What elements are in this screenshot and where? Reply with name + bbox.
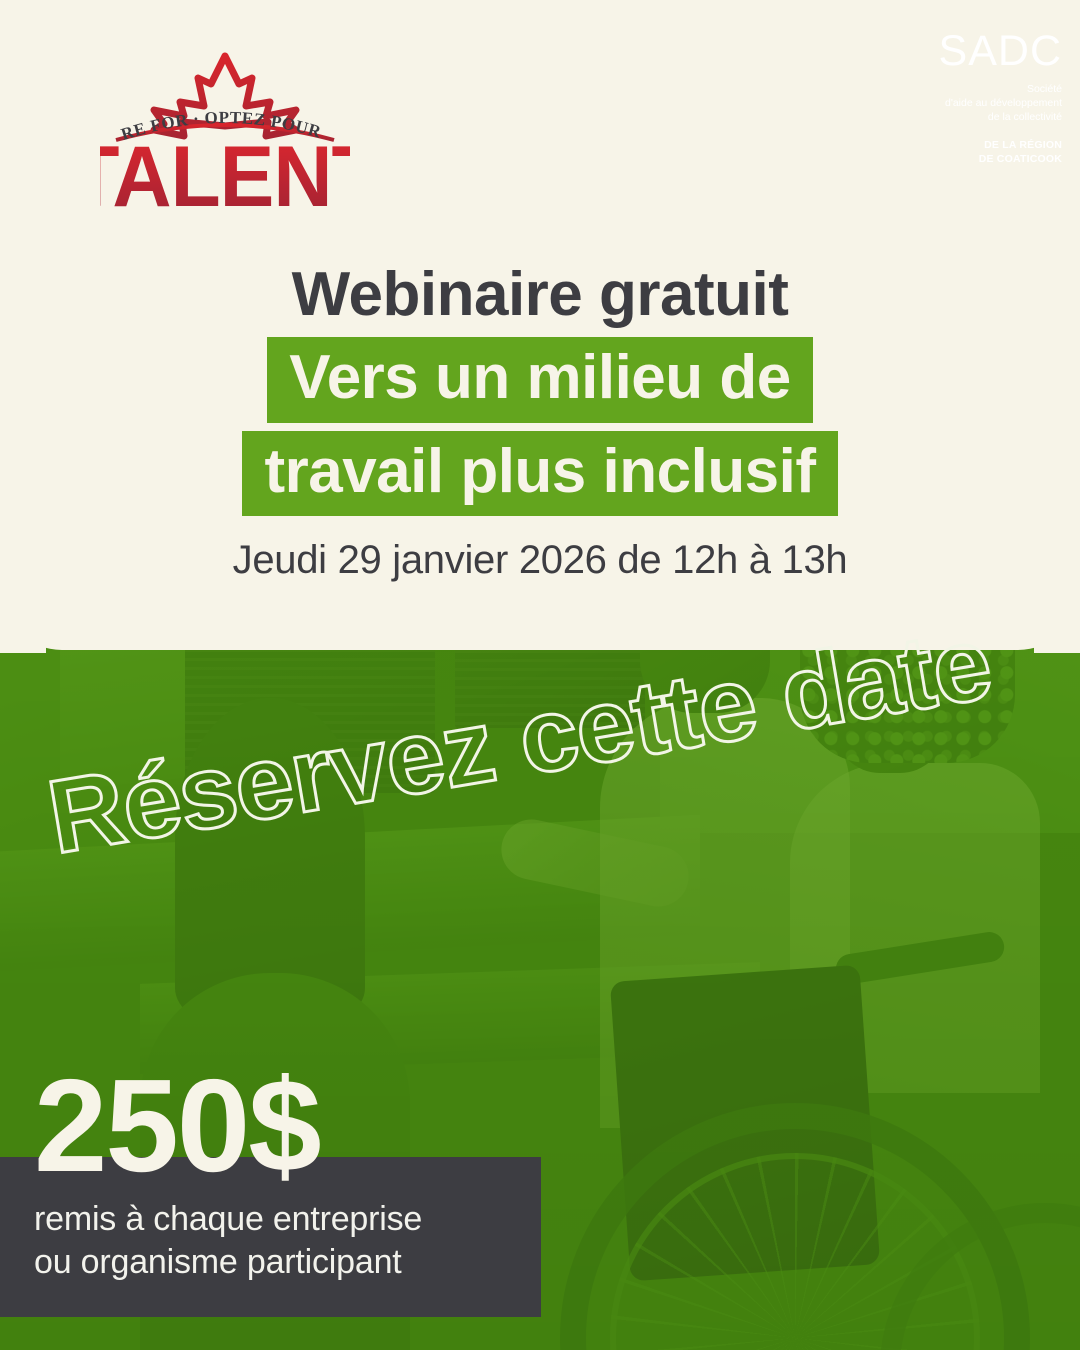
sadc-acronym: SADC: [862, 30, 1062, 73]
sadc-region-line-2: DE COATICOOK: [862, 152, 1062, 166]
incentive-note: remis à chaque entreprise ou organisme p…: [34, 1198, 422, 1283]
logo-wordmark: TALENT: [100, 128, 350, 215]
title-line-1: Vers un milieu de: [267, 337, 812, 422]
eyebrow-webinar-free: Webinaire gratuit: [0, 262, 1080, 327]
incentive-amount: 250$: [34, 1060, 320, 1192]
title-line-2: travail plus inclusif: [242, 431, 837, 516]
headline-block: Webinaire gratuit Vers un milieu de trav…: [0, 262, 1080, 583]
sadc-logo: SADC Société d'aide au développement de …: [862, 30, 1062, 166]
incentive-note-line-1: remis à chaque entreprise: [34, 1198, 422, 1241]
sadc-subtitle-line-1: Société: [862, 82, 1062, 96]
sadc-subtitle-line-3: de la collectivité: [862, 110, 1062, 124]
hire-for-talent-logo: HIRE FOR · OPTEZ POUR LE TALENT: [100, 40, 350, 215]
event-date-time: Jeudi 29 janvier 2026 de 12h à 13h: [0, 538, 1080, 583]
incentive-note-line-2: ou organisme participant: [34, 1241, 422, 1284]
sadc-region-line-1: DE LA RÉGION: [862, 138, 1062, 152]
sadc-subtitle-line-2: d'aide au développement: [862, 96, 1062, 110]
webinar-promo-poster: SADC Société d'aide au développement de …: [0, 0, 1080, 1350]
